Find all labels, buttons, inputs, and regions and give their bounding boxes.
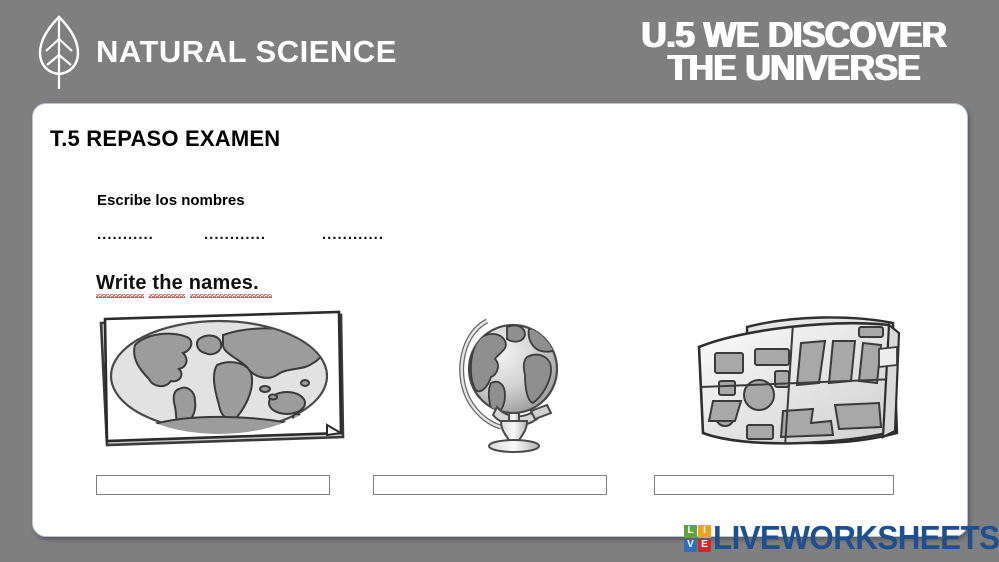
folded-city-map-image [683, 309, 913, 454]
liveworksheets-logo[interactable]: L I V E LIVEWORKSHEETS [684, 518, 999, 558]
unit-title-line-2: THE UNIVERSE [642, 51, 947, 84]
brand-lockup: NATURAL SCIENCE [36, 13, 397, 91]
instruction-english: Write the names. [96, 272, 259, 295]
worksheet-card: T.5 REPASO EXAMEN Escribe los nombres ..… [32, 103, 968, 537]
liveworksheets-logo-tiles: L I V E [684, 525, 711, 552]
liveworksheets-wordmark: LIVEWORKSHEETS [713, 519, 999, 557]
page-header: NATURAL SCIENCE U.5 WE DISCOVER THE UNIV… [0, 0, 999, 103]
dotted-line-1: ........... [97, 227, 154, 242]
spellcheck-underline-icon [96, 294, 144, 298]
unit-title: U.5 WE DISCOVER THE UNIVERSE [642, 18, 947, 84]
instruction-english-wrap: Write the names. [96, 272, 259, 295]
globe-on-stand-image [439, 309, 587, 457]
answer-input-2[interactable] [373, 475, 607, 495]
worksheet-content: T.5 REPASO EXAMEN Escribe los nombres ..… [33, 104, 967, 536]
dotted-line-2: ............ [204, 227, 266, 242]
planisphere-world-map-image [91, 309, 353, 454]
instruction-english-text: Write the names. [96, 272, 259, 294]
instruction-spanish: Escribe los nombres [97, 192, 245, 209]
leaf-icon [36, 13, 82, 91]
spellcheck-underline-icon [190, 294, 272, 298]
figure-row [33, 309, 967, 459]
dotted-answer-lines: ........... ............ ............ [97, 227, 517, 245]
logo-tile-e: E [698, 539, 711, 552]
answer-input-1[interactable] [96, 475, 330, 495]
page-title: T.5 REPASO EXAMEN [50, 126, 280, 152]
brand-name: NATURAL SCIENCE [96, 34, 397, 70]
logo-tile-l: L [684, 525, 697, 538]
logo-tile-v: V [684, 539, 697, 552]
logo-tile-i: I [698, 525, 711, 538]
answer-input-row [33, 475, 967, 497]
answer-input-3[interactable] [654, 475, 894, 495]
spellcheck-underline-icon [149, 294, 185, 298]
dotted-line-3: ............ [322, 227, 384, 242]
